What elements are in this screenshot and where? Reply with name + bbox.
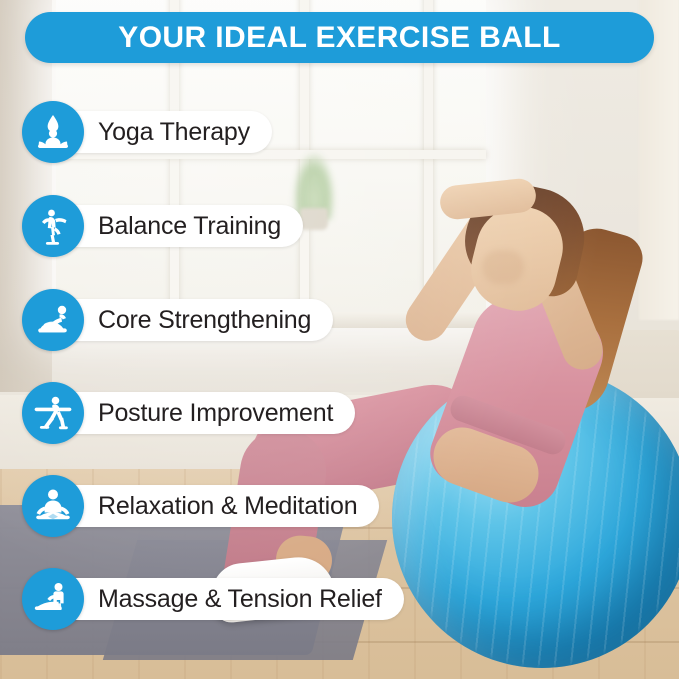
feature-label-pill: Massage & Tension Relief xyxy=(72,578,404,620)
warrior-pose-icon xyxy=(22,382,84,444)
infographic-canvas: YOUR IDEAL EXERCISE BALL Yoga Th xyxy=(0,0,679,679)
feature-label: Relaxation & Meditation xyxy=(98,492,357,521)
feature-list: Yoga Therapy xyxy=(0,0,679,679)
feature-label: Balance Training xyxy=(98,212,281,241)
feature-row-posture-improvement[interactable]: Posture Improvement xyxy=(22,377,355,449)
balance-pose-icon xyxy=(22,195,84,257)
feature-label-pill: Posture Improvement xyxy=(72,392,355,434)
feature-label: Core Strengthening xyxy=(98,306,311,335)
feature-row-core-strengthening[interactable]: Core Strengthening xyxy=(22,284,333,356)
feature-label: Posture Improvement xyxy=(98,399,333,428)
feature-row-balance-training[interactable]: Balance Training xyxy=(22,190,303,262)
feature-label-pill: Relaxation & Meditation xyxy=(72,485,379,527)
massage-therapy-icon xyxy=(22,568,84,630)
feature-label-pill: Balance Training xyxy=(72,205,303,247)
feature-label: Yoga Therapy xyxy=(98,118,250,147)
feature-row-massage-tension-relief[interactable]: Massage & Tension Relief xyxy=(22,563,404,635)
crunch-situp-icon xyxy=(22,289,84,351)
feature-label-pill: Core Strengthening xyxy=(72,299,333,341)
feature-label-pill: Yoga Therapy xyxy=(72,111,272,153)
feature-row-yoga-therapy[interactable]: Yoga Therapy xyxy=(22,96,272,168)
feature-label: Massage & Tension Relief xyxy=(98,585,382,614)
yoga-meditation-icon xyxy=(22,101,84,163)
feature-row-relaxation-meditation[interactable]: Relaxation & Meditation xyxy=(22,470,379,542)
lotus-sitting-icon xyxy=(22,475,84,537)
